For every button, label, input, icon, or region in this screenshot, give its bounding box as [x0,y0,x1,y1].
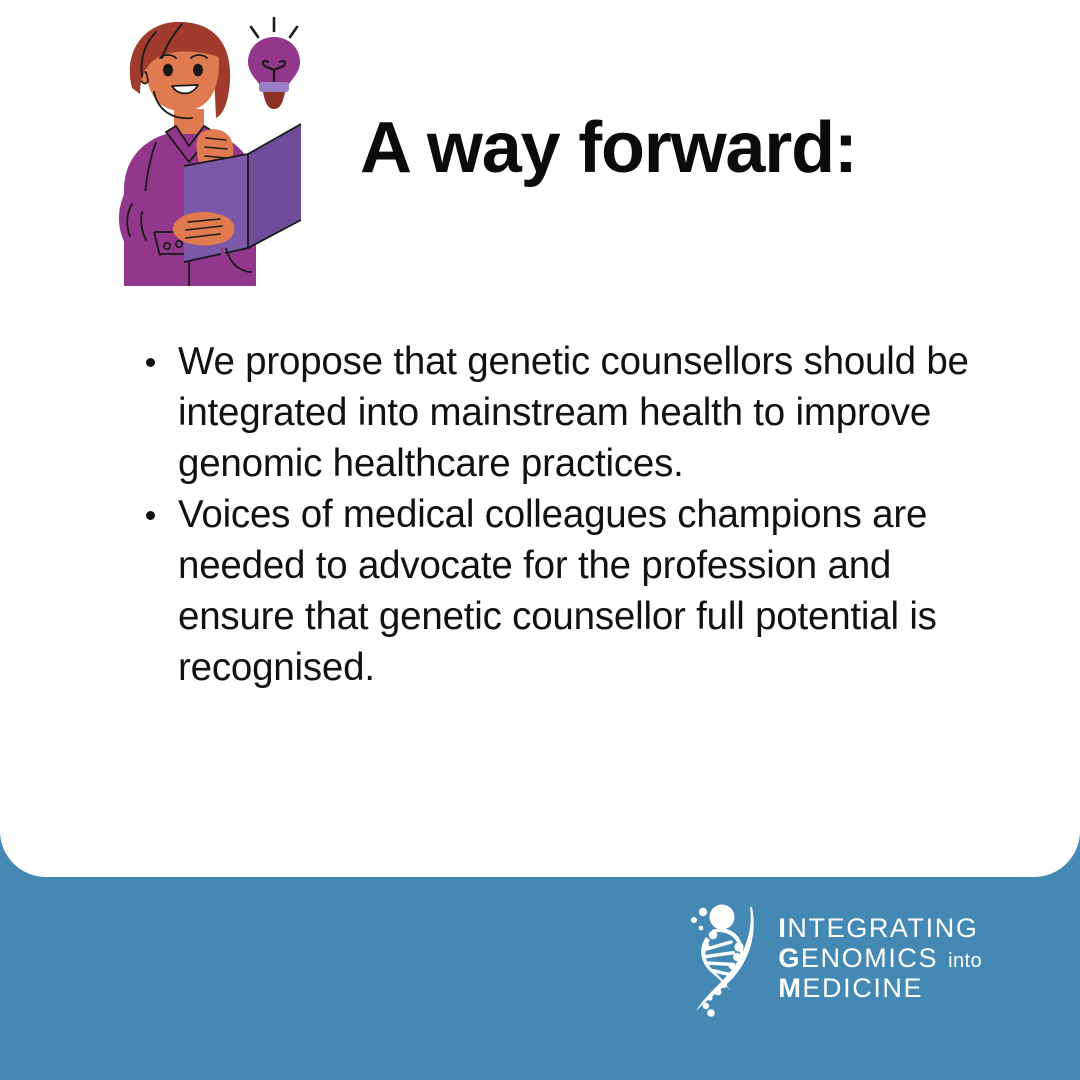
header-area: A way forward: [0,0,1080,300]
bullet-list: We propose that genetic counsellors shou… [138,336,998,693]
logo-line-1: INTEGRATING [778,913,982,943]
logo-wordmark: INTEGRATING GENOMICSinto MEDICINE [778,913,982,1004]
dna-helix-icon [682,899,768,1017]
logo-line-1-rest: NTEGRATING [787,913,978,943]
bullet-dot-icon [146,358,155,367]
logo-line-2-suffix: into [948,950,982,972]
slide-root: A way forward: We propose that genetic c… [0,0,1080,1080]
bullet-text: Voices of medical colleagues champions a… [178,493,937,689]
content-card: A way forward: We propose that genetic c… [0,0,1080,877]
bullet-item: We propose that genetic counsellors shou… [138,336,998,489]
logo-line-2-rest: ENOMICS [801,943,938,973]
logo-line-3-rest: EDICINE [802,973,923,1003]
woman-reading-illustration [96,14,326,286]
footer-band: INTEGRATING GENOMICSinto MEDICINE [0,877,1080,1080]
logo-line-2-cap: G [778,943,801,973]
brand-logo: INTEGRATING GENOMICSinto MEDICINE [682,899,982,1017]
logo-line-3-cap: M [778,973,802,1003]
bullet-dot-icon [146,511,155,520]
bullet-text: We propose that genetic counsellors shou… [178,340,969,485]
page-title: A way forward: [360,112,857,184]
logo-line-2: GENOMICSinto [778,943,982,973]
logo-line-3: MEDICINE [778,973,982,1003]
bullet-item: Voices of medical colleagues champions a… [138,489,998,693]
lightbulb-icon [248,18,300,109]
